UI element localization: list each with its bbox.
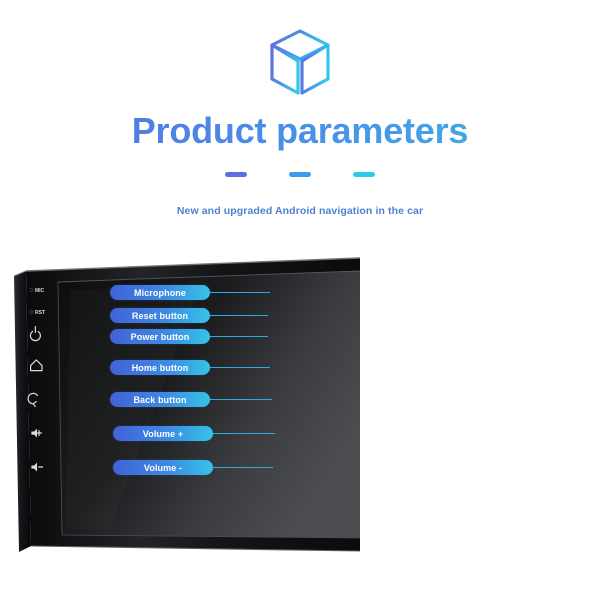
svg-text:MIC: MIC — [35, 288, 45, 294]
callout-back-button[interactable]: Back button — [110, 392, 272, 407]
callout-microphone-leader — [210, 292, 270, 293]
car-head-unit-device: MIC RST — [0, 255, 600, 600]
callout-microphone-label[interactable]: Microphone — [110, 285, 210, 300]
callout-reset-button-label[interactable]: Reset button — [110, 308, 210, 323]
cube-icon — [265, 26, 335, 100]
callout-back-button-leader — [210, 399, 272, 400]
header-section: Product parameters New and upgraded Andr… — [0, 0, 600, 250]
logo-container — [0, 26, 600, 105]
divider-dash-2 — [289, 172, 311, 177]
callout-volume-down-leader — [213, 467, 273, 468]
divider-dashes — [0, 172, 600, 177]
callout-power-button-leader — [210, 336, 268, 337]
divider-dash-1 — [225, 172, 247, 177]
callout-volume-up-leader — [213, 433, 275, 434]
callout-power-button[interactable]: Power button — [110, 329, 268, 344]
callout-volume-up-label[interactable]: Volume + — [113, 426, 213, 441]
divider-dash-3 — [353, 172, 375, 177]
page-subtitle: New and upgraded Android navigation in t… — [0, 205, 600, 217]
callout-reset-button-leader — [210, 315, 268, 316]
callout-home-button-leader — [210, 367, 270, 368]
device-illustration: MIC RST — [0, 255, 600, 600]
callout-reset-button[interactable]: Reset button — [110, 308, 268, 323]
callout-power-button-label[interactable]: Power button — [110, 329, 210, 344]
product-parameters-infographic: Product parameters New and upgraded Andr… — [0, 0, 600, 600]
callout-home-button-label[interactable]: Home button — [110, 360, 210, 375]
svg-text:RST: RST — [35, 310, 45, 316]
callout-volume-down-label[interactable]: Volume - — [113, 460, 213, 475]
callout-back-button-label[interactable]: Back button — [110, 392, 210, 407]
callout-volume-up[interactable]: Volume + — [113, 426, 275, 441]
callout-microphone[interactable]: Microphone — [110, 285, 270, 300]
callout-volume-down[interactable]: Volume - — [113, 460, 273, 475]
page-title: Product parameters — [0, 110, 600, 152]
callout-home-button[interactable]: Home button — [110, 360, 270, 375]
